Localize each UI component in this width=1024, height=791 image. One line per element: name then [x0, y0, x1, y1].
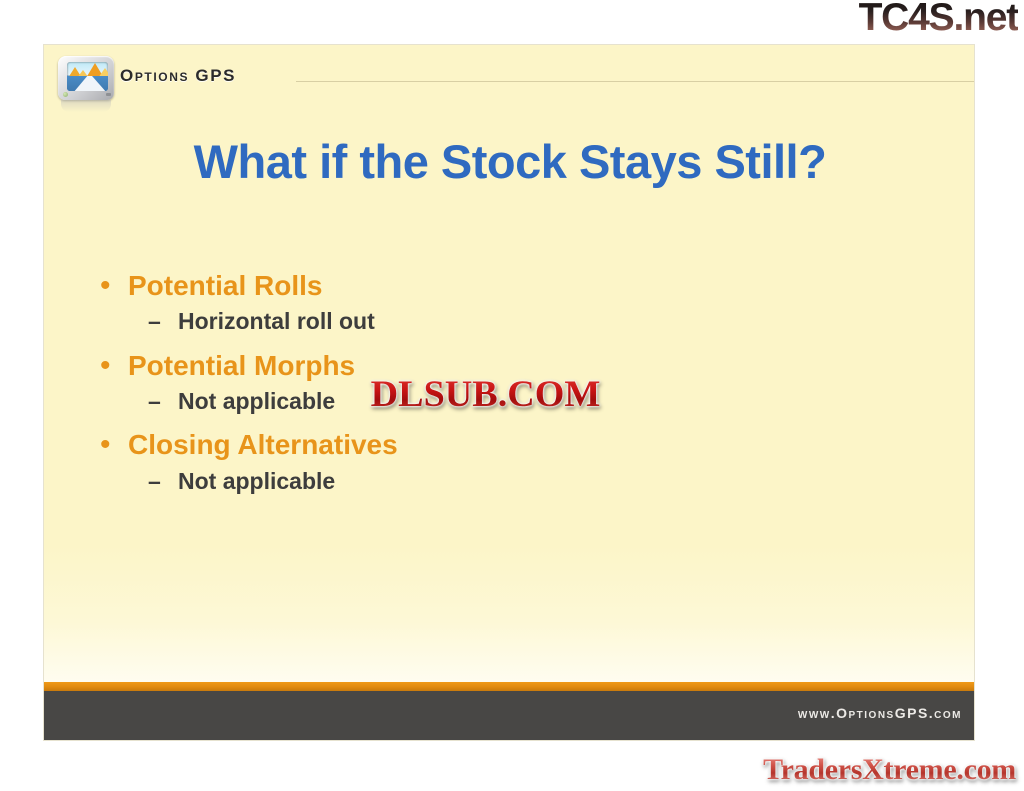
tc4s-watermark: TC4S.net [859, 0, 1018, 37]
bullet-label: Closing Alternatives [128, 429, 398, 461]
dash-icon: – [148, 310, 178, 333]
header-divider [296, 81, 975, 82]
bullet-dot-icon: • [100, 351, 128, 381]
gps-device-screen [67, 62, 108, 91]
list-item: – Horizontal roll out [94, 308, 924, 335]
device-led [63, 92, 68, 97]
list-item: – Not applicable [94, 468, 924, 495]
gps-device-icon [58, 56, 114, 103]
device-button [106, 93, 111, 96]
list-item: • Closing Alternatives [94, 429, 924, 461]
bullet-dot-icon: • [100, 271, 128, 301]
sub-bullet-label: Not applicable [178, 468, 335, 495]
dlsub-watermark: DLSUB.COM [371, 373, 601, 416]
slide-header: Options GPS [44, 45, 975, 103]
tradersxtreme-watermark: TradersXtreme.com [763, 755, 1016, 785]
bullet-label: Potential Rolls [128, 270, 322, 302]
page-title: What if the Stock Stays Still? [44, 134, 975, 189]
sub-bullet-label: Not applicable [178, 388, 335, 415]
dash-icon: – [148, 390, 178, 413]
footer-url: www.OptionsGPS.com [798, 705, 962, 721]
bullet-dot-icon: • [100, 430, 128, 460]
footer-accent-bar [44, 682, 975, 691]
presentation-slide: Options GPS What if the Stock Stays Stil… [43, 44, 975, 741]
sub-bullet-label: Horizontal roll out [178, 308, 375, 335]
bullet-label: Potential Morphs [128, 350, 355, 382]
gps-device-body [58, 56, 114, 100]
dash-icon: – [148, 470, 178, 493]
road-shape [67, 76, 108, 91]
brand-wordmark: Options GPS [120, 66, 236, 86]
list-item: • Potential Rolls [94, 270, 924, 302]
device-reflection [61, 100, 111, 112]
slide-footer: www.OptionsGPS.com [44, 691, 975, 740]
